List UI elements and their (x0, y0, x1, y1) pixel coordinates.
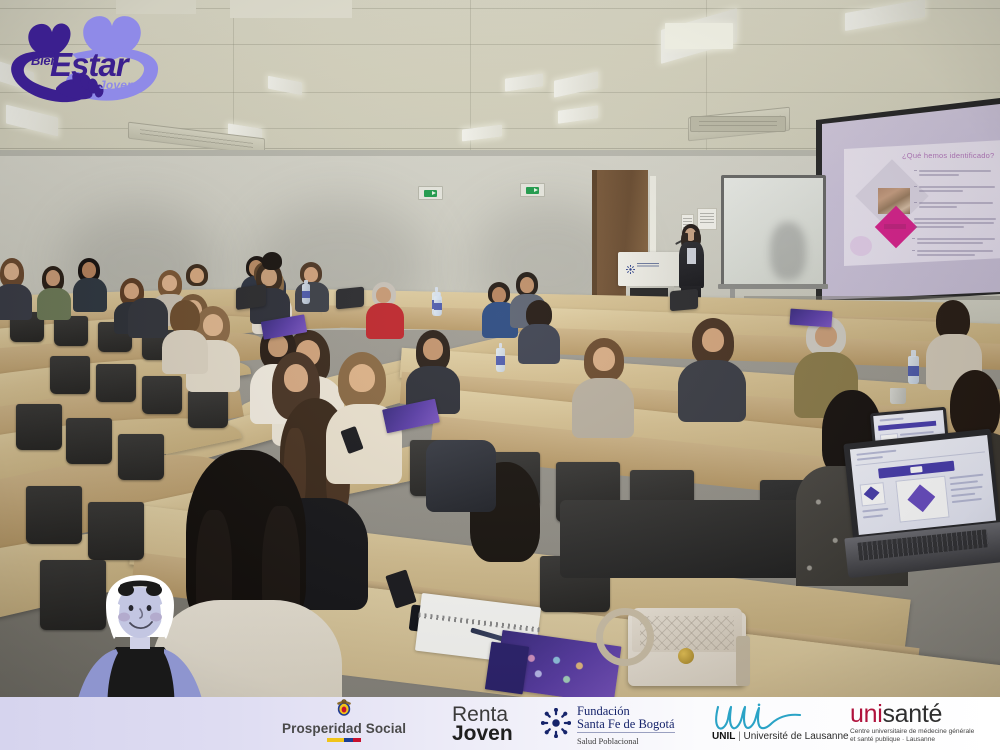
fsfb-snowflake-icon (541, 708, 571, 743)
water-bottle (496, 348, 505, 372)
slide-title: ¿Qué hemos identificado? (902, 151, 994, 160)
colombia-flag-bar (327, 738, 361, 742)
unisante-sub-line2: et santé publique · Lausanne (850, 736, 935, 743)
laptop (336, 287, 364, 310)
logo-renta-joven: Renta Joven (452, 705, 513, 744)
poster-image: ¿Qué hemos identificado? (0, 0, 1000, 750)
exit-sign (418, 186, 443, 200)
water-bottle (302, 284, 310, 304)
ceiling-air-vent (690, 116, 786, 132)
fsfb-tagline: Salud Poblacional (577, 736, 675, 746)
logo-unisante: unisanté Centre universitaire de médecin… (850, 703, 974, 744)
unil-script-mark (712, 703, 804, 731)
laptop (236, 284, 266, 310)
prosperidad-social-title: Prosperidad Social (282, 721, 406, 736)
handbag-clasp (678, 648, 694, 664)
laptop (670, 289, 698, 311)
auditorium-chair (50, 356, 90, 394)
auditorium-chair (66, 418, 112, 464)
auditorium-chair (16, 404, 62, 450)
logo-prosperidad-social: Prosperidad Social (282, 699, 406, 742)
slide-badge (884, 224, 906, 229)
unisante-part2: santé (882, 700, 942, 728)
partner-logos-footer: Prosperidad Social Renta Joven (0, 697, 1000, 750)
brochure (789, 309, 832, 328)
renta-joven-line2: Joven (452, 724, 513, 744)
unisante-part1: uni (850, 700, 882, 728)
bienestar-joven-logo: Bien Estar Joven (8, 8, 168, 113)
drinking-cup (890, 388, 906, 404)
auditorium-chair (88, 502, 144, 560)
presenter-shadow (770, 222, 806, 280)
auditorium-chair (26, 486, 82, 544)
podium-logo (626, 261, 659, 270)
podium-logo-text (637, 263, 659, 268)
fsfb-line2: Santa Fe de Bogotá (577, 718, 675, 731)
water-bottle (434, 296, 442, 316)
auditorium-chair (188, 390, 228, 428)
fsfb-mark-icon (626, 261, 635, 270)
logo-unil: UNIL | Université de Lausanne (712, 703, 849, 742)
unisante-subtitle: Centre universitaire de médecine général… (850, 728, 974, 744)
unisante-wordmark: unisanté (850, 703, 942, 726)
slide-decor-blob (850, 236, 872, 256)
laptop-screen (850, 435, 996, 535)
logo-fundacion-santa-fe: Fundación Santa Fe de Bogotá Salud Pobla… (541, 705, 675, 746)
auditorium-chair (142, 376, 182, 414)
brochure (485, 642, 529, 695)
water-bottle (908, 356, 919, 384)
auditorium-chair (118, 434, 164, 480)
ceiling-light-panel (665, 23, 733, 49)
colombia-coat-of-arms-icon (333, 699, 355, 721)
auditorium-chair (96, 364, 136, 402)
exit-sign (520, 183, 545, 197)
unisante-sub-line1: Centre universitaire de médecine général… (850, 728, 974, 735)
presentation-slide: ¿Qué hemos identificado? (844, 140, 1000, 266)
fsfb-divider (577, 732, 675, 733)
fsfb-line1: Fundación (577, 705, 675, 718)
wall-notice (697, 208, 717, 230)
logo-word-joven: Joven (99, 78, 135, 92)
projection-screen: ¿Qué hemos identificado? (822, 104, 1000, 300)
auditorium-chair (54, 316, 88, 346)
